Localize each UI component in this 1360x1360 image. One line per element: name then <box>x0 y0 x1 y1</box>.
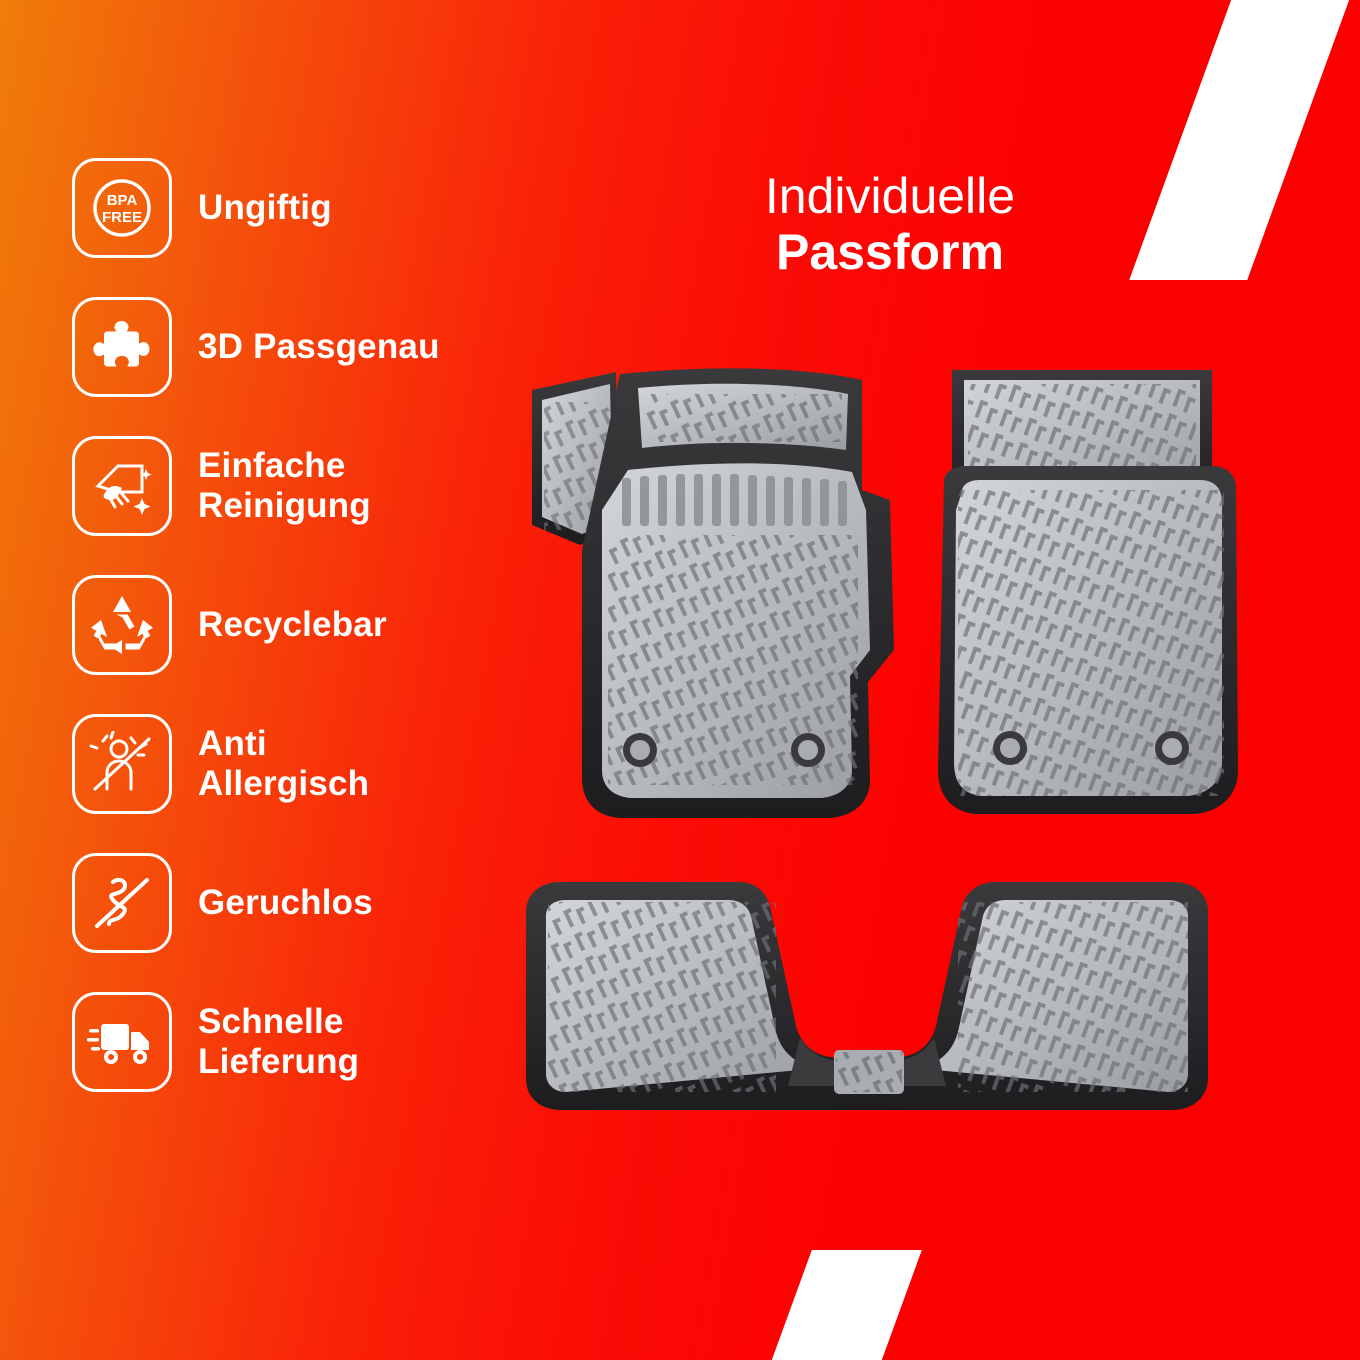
rear-floor-mat <box>526 882 1208 1110</box>
headline-line-2: Passform <box>610 224 1170 280</box>
feature-label-anti-allergisch: Anti Allergisch <box>198 724 369 805</box>
front-right-floor-mat <box>938 370 1238 814</box>
decorative-slash-bottom <box>768 1250 922 1360</box>
svg-text:BPA: BPA <box>107 192 138 209</box>
easy-cleaning-icon <box>72 436 172 536</box>
feature-label-einfache-reinigung: Einfache Reinigung <box>198 446 371 527</box>
feature-label-3d-passgenau: 3D Passgenau <box>198 327 440 367</box>
svg-text:FREE: FREE <box>102 209 142 226</box>
product-image-floor-mat-set <box>470 350 1300 1180</box>
bpa-free-icon: BPA FREE <box>72 158 172 258</box>
puzzle-piece-icon <box>72 297 172 397</box>
headline: Individuelle Passform <box>610 168 1170 280</box>
feature-label-schnelle-lieferung: Schnelle Lieferung <box>198 1002 359 1083</box>
odourless-icon <box>72 853 172 953</box>
recycling-icon <box>72 575 172 675</box>
front-left-floor-mat <box>532 368 894 818</box>
feature-label-recyclebar: Recyclebar <box>198 605 387 645</box>
product-poster: Individuelle Passform BPA FREE Ungiftig … <box>0 0 1360 1360</box>
headline-line-1: Individuelle <box>610 168 1170 224</box>
anti-allergic-icon <box>72 714 172 814</box>
feature-item-ungiftig: BPA FREE Ungiftig <box>72 152 542 264</box>
feature-label-ungiftig: Ungiftig <box>198 188 332 228</box>
feature-label-geruchlos: Geruchlos <box>198 883 373 923</box>
fast-delivery-truck-icon <box>72 992 172 1092</box>
